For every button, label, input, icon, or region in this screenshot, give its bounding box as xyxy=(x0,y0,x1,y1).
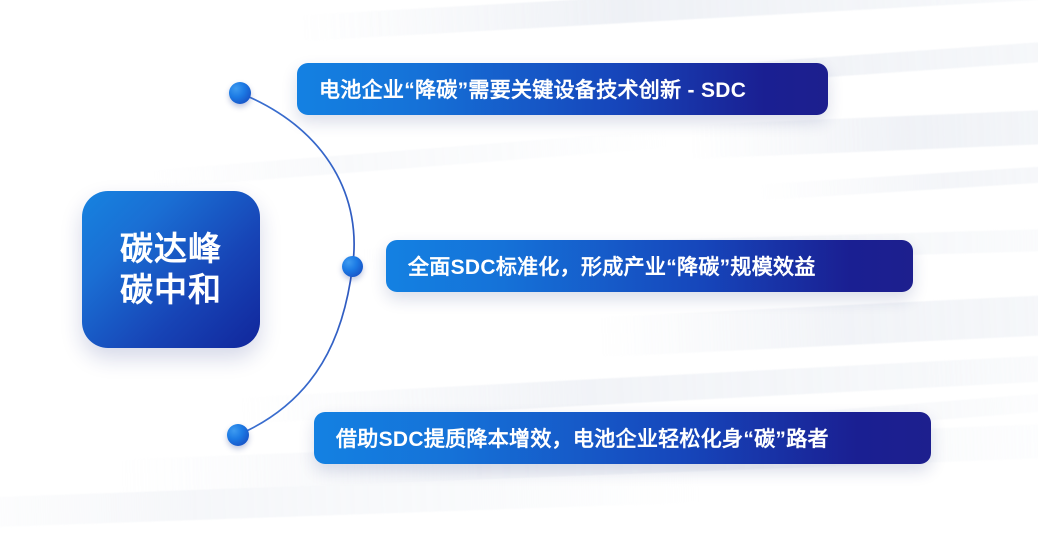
content-bar-2[interactable]: 全面SDC标准化，形成产业“降碳”规模效益 xyxy=(386,240,913,292)
slide-canvas: 碳达峰 碳中和 电池企业“降碳”需要关键设备技术创新 - SDC 全面SDC标准… xyxy=(0,0,1038,539)
node-dot-bottom xyxy=(227,424,249,446)
background-streak xyxy=(0,472,700,529)
main-concept-box: 碳达峰 碳中和 xyxy=(82,191,260,348)
content-bar-2-label: 全面SDC标准化，形成产业“降碳”规模效益 xyxy=(386,251,838,281)
node-dot-middle xyxy=(342,256,363,277)
node-dot-top xyxy=(229,82,251,104)
main-concept-line-2: 碳中和 xyxy=(120,270,222,310)
background-streak xyxy=(760,152,1038,201)
background-streak xyxy=(150,130,670,189)
content-bar-3-label: 借助SDC提质降本增效，电池企业轻松化身“碳”路者 xyxy=(314,423,851,453)
content-bar-1[interactable]: 电池企业“降碳”需要关键设备技术创新 - SDC xyxy=(297,63,828,115)
content-bar-3[interactable]: 借助SDC提质降本增效，电池企业轻松化身“碳”路者 xyxy=(314,412,931,464)
background-streak xyxy=(599,283,1038,357)
background-streak xyxy=(300,0,1038,41)
content-bar-1-label: 电池企业“降碳”需要关键设备技术创新 - SDC xyxy=(297,74,768,104)
main-concept-line-1: 碳达峰 xyxy=(120,229,222,269)
